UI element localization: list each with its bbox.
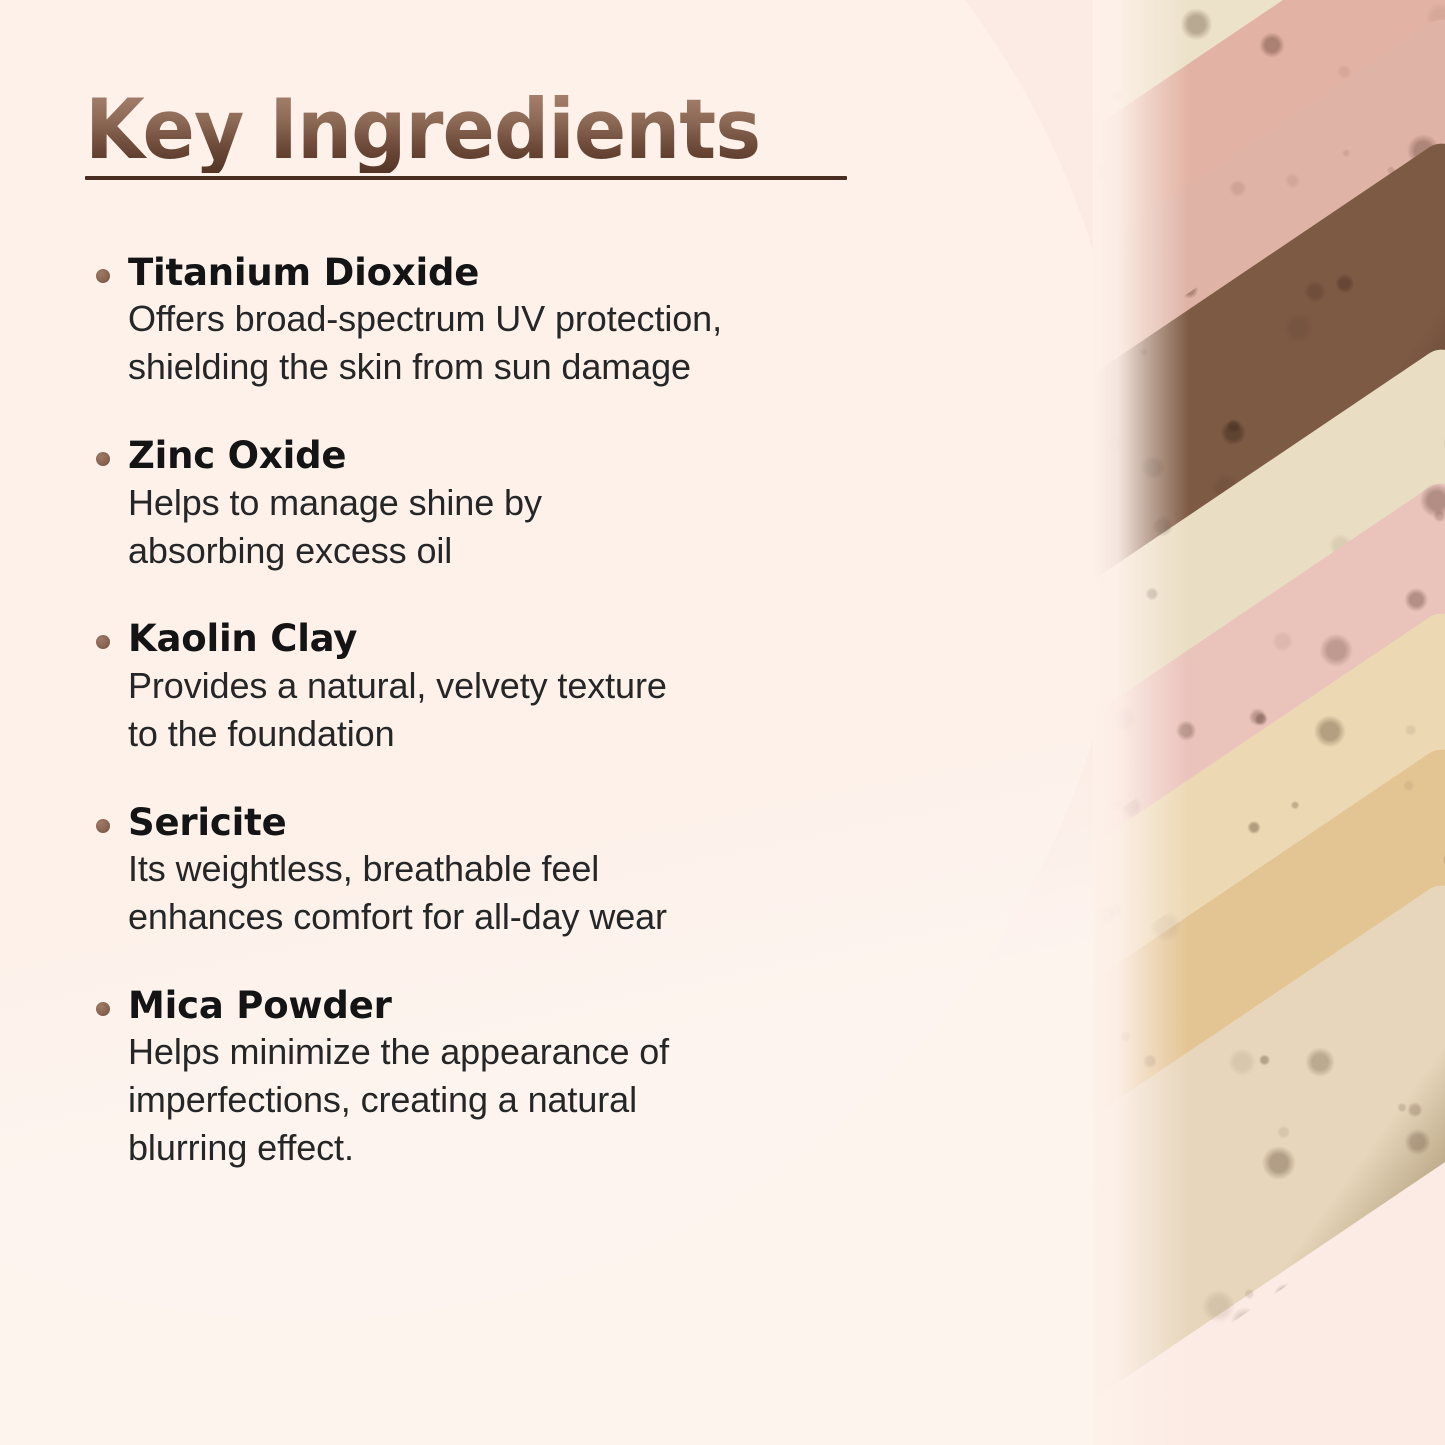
ingredient-name: Mica Powder bbox=[128, 985, 990, 1026]
bullet-dot-icon bbox=[96, 1002, 110, 1016]
ingredient-name: Zinc Oxide bbox=[128, 435, 990, 476]
page-title: Key Ingredients bbox=[85, 88, 820, 173]
ingredient-description: Helps minimize the appearance of imperfe… bbox=[128, 1028, 990, 1172]
list-item: Titanium Dioxide Offers broad-spectrum U… bbox=[85, 252, 990, 391]
powder-swatch-image bbox=[1093, 0, 1445, 1445]
ingredient-name: Sericite bbox=[128, 802, 990, 843]
bullet-dot-icon bbox=[96, 635, 110, 649]
ingredient-name: Titanium Dioxide bbox=[128, 252, 990, 293]
ingredient-list: Titanium Dioxide Offers broad-spectrum U… bbox=[85, 252, 990, 1172]
list-item: Kaolin Clay Provides a natural, velvety … bbox=[85, 618, 990, 757]
list-item: Mica Powder Helps minimize the appearanc… bbox=[85, 985, 990, 1172]
bullet-dot-icon bbox=[96, 269, 110, 283]
ingredient-name: Kaolin Clay bbox=[128, 618, 990, 659]
bullet-dot-icon bbox=[96, 452, 110, 466]
title-block: Key Ingredients bbox=[85, 88, 875, 173]
title-underline-rule bbox=[85, 176, 847, 180]
list-item: Sericite Its weightless, breathable feel… bbox=[85, 802, 990, 941]
ingredient-description: Its weightless, breathable feel enhances… bbox=[128, 845, 990, 941]
bullet-dot-icon bbox=[96, 819, 110, 833]
list-item: Zinc Oxide Helps to manage shine by abso… bbox=[85, 435, 990, 574]
content-panel: Key Ingredients Titanium Dioxide Offers … bbox=[0, 0, 1060, 1445]
ingredient-description: Helps to manage shine by absorbing exces… bbox=[128, 479, 990, 575]
ingredient-description: Provides a natural, velvety texture to t… bbox=[128, 662, 990, 758]
ingredient-description: Offers broad-spectrum UV protection, shi… bbox=[128, 295, 990, 391]
